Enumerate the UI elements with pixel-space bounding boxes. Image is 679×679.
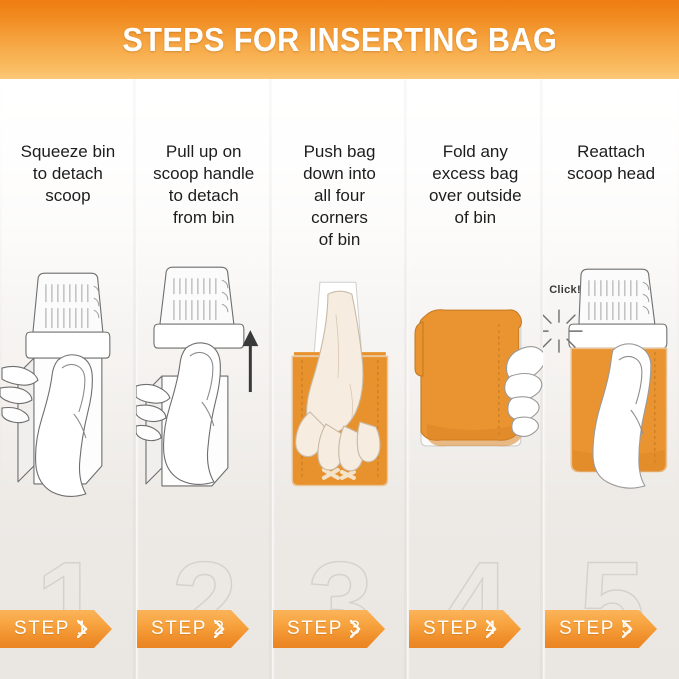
caption-line: down into xyxy=(276,163,404,185)
chevron-right-icon xyxy=(622,620,633,638)
chevron-right-icon xyxy=(486,620,497,638)
caption-line: to detach xyxy=(140,185,268,207)
caption-line: Fold any xyxy=(411,141,539,163)
step-caption-4: Fold any excess bag over outside of bin xyxy=(411,141,539,229)
step-illustration-2 xyxy=(136,264,272,564)
step-illustration-3 xyxy=(272,264,408,564)
step-panel-1: Squeeze bin to detach scoop xyxy=(0,79,136,679)
caption-line: excess bag xyxy=(411,163,539,185)
chevron-right-icon xyxy=(350,620,361,638)
caption-line: Pull up on xyxy=(140,141,268,163)
step-banner-1[interactable]: STEP 1 xyxy=(0,610,112,648)
caption-line: scoop head xyxy=(547,163,675,185)
step-illustration-4 xyxy=(407,264,543,564)
step-caption-2: Pull up on scoop handle to detach from b… xyxy=(140,141,268,229)
step-panel-4: Fold any excess bag over outside of bin xyxy=(407,79,543,679)
step-banner-4[interactable]: STEP 4 xyxy=(409,610,521,648)
click-annotation: Click! xyxy=(549,284,581,296)
caption-line: all four xyxy=(276,185,404,207)
page-title: STEPS FOR INSERTING BAG xyxy=(122,21,557,59)
caption-line: from bin xyxy=(140,207,268,229)
step-caption-5: Reattach scoop head xyxy=(547,141,675,185)
chevron-right-icon xyxy=(77,620,88,638)
up-arrow-icon xyxy=(242,330,258,392)
step-illustration-5: Click! xyxy=(543,264,679,564)
header-banner: STEPS FOR INSERTING BAG xyxy=(0,0,679,79)
chevron-right-icon xyxy=(214,620,225,638)
caption-line: to detach xyxy=(4,163,132,185)
caption-line: of bin xyxy=(276,229,404,251)
step-banner-2[interactable]: STEP 2 xyxy=(137,610,249,648)
step-banner-row: STEP 1 STEP 2 STEP 3 STEP 4 STEP 5 xyxy=(0,610,679,650)
step-illustration-1 xyxy=(0,264,136,564)
step-panel-3: Push bag down into all four corners of b… xyxy=(272,79,408,679)
caption-line: corners xyxy=(276,207,404,229)
caption-line: over outside xyxy=(411,185,539,207)
step-panel-5: Reattach scoop head xyxy=(543,79,679,679)
step-caption-3: Push bag down into all four corners of b… xyxy=(276,141,404,251)
step-banner-3[interactable]: STEP 3 xyxy=(273,610,385,648)
caption-line: scoop xyxy=(4,185,132,207)
step-panel-2: Pull up on scoop handle to detach from b… xyxy=(136,79,272,679)
steps-container: Squeeze bin to detach scoop xyxy=(0,79,679,679)
step-caption-1: Squeeze bin to detach scoop xyxy=(4,141,132,207)
caption-line: Reattach xyxy=(547,141,675,163)
caption-line: of bin xyxy=(411,207,539,229)
caption-line: Squeeze bin xyxy=(4,141,132,163)
step-banner-5[interactable]: STEP 5 xyxy=(545,610,657,648)
caption-line: Push bag xyxy=(276,141,404,163)
instruction-graphic: STEPS FOR INSERTING BAG Squeeze bin to d… xyxy=(0,0,679,679)
caption-line: scoop handle xyxy=(140,163,268,185)
